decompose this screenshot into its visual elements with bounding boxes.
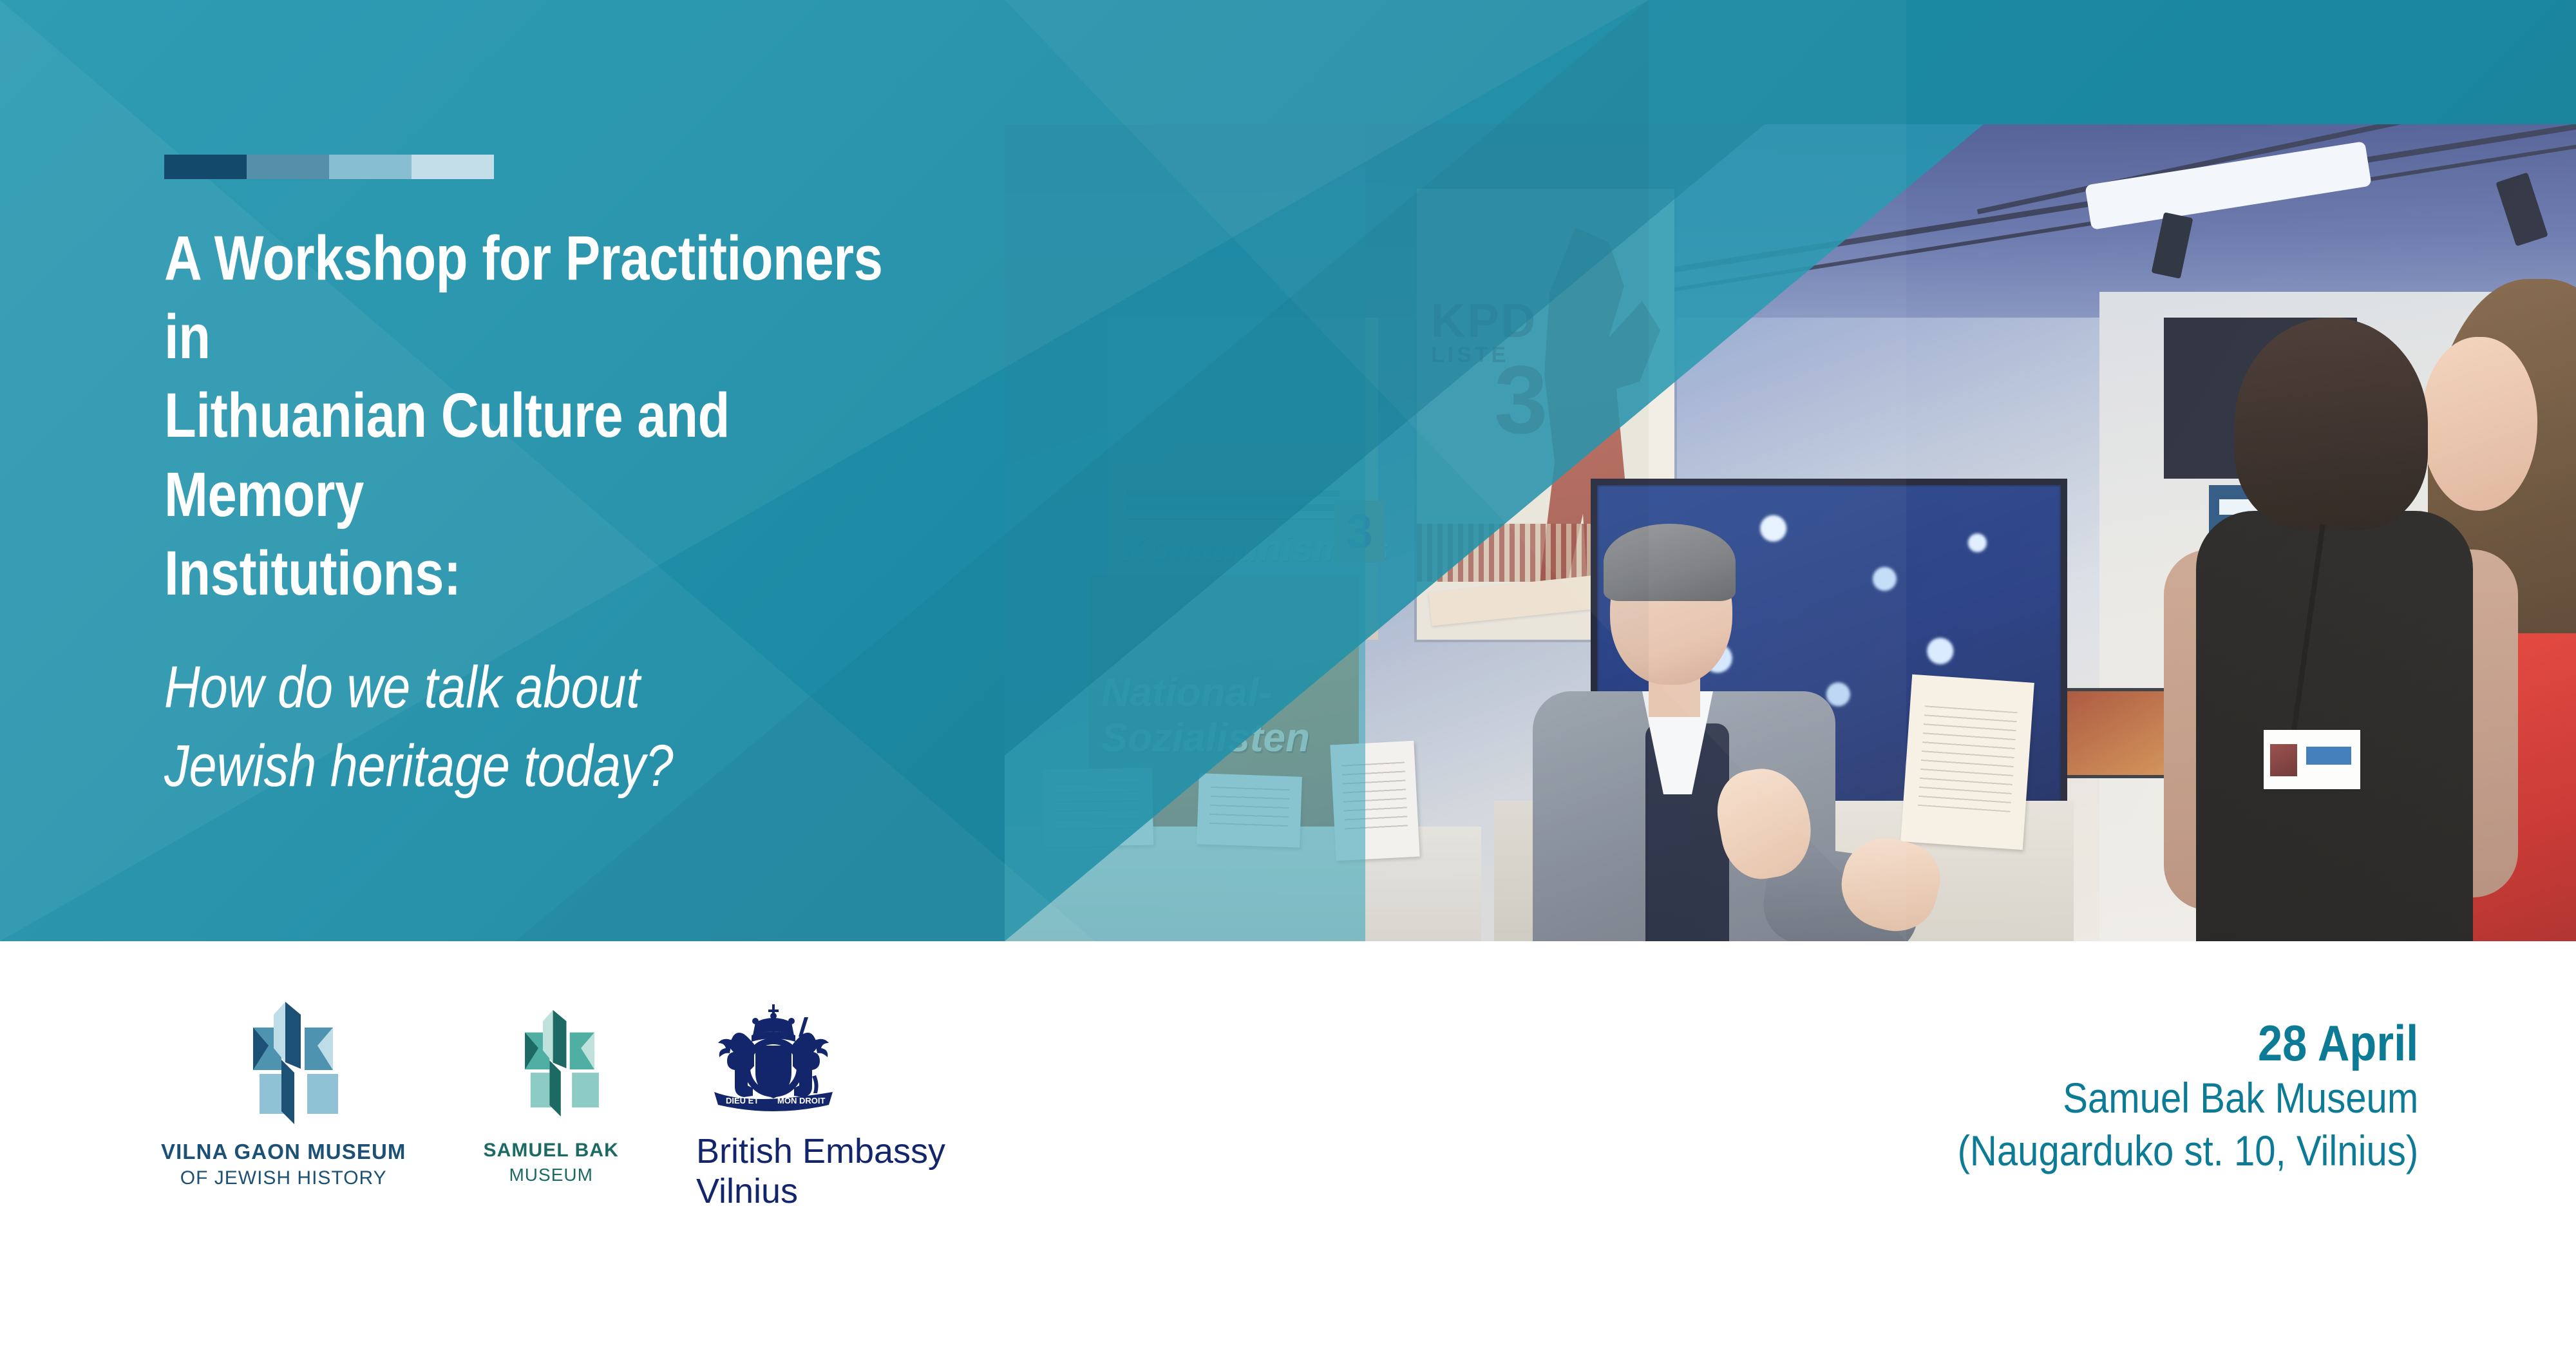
logo-british-embassy[interactable]: DIEU ET MON DROIT British Embassy Vilniu… bbox=[696, 1000, 945, 1211]
hero-text-block: A Workshop for Practitioners in Lithuani… bbox=[164, 155, 1079, 805]
swatch-dark-navy bbox=[164, 155, 247, 179]
subtitle-line-1: How do we talk about bbox=[164, 649, 933, 727]
title-line-1: A Workshop for Practitioners in bbox=[164, 219, 933, 376]
vilna-gaon-star-icon bbox=[209, 1000, 357, 1129]
logo-samuel-bak-name: SAMUEL BAK bbox=[483, 1140, 618, 1162]
logo-samuel-bak-caption: SAMUEL BAK MUSEUM bbox=[483, 1140, 618, 1185]
logo-british-embassy-city: Vilnius bbox=[696, 1172, 945, 1212]
logo-vilna-gaon-caption: VILNA GAON MUSEUM OF JEWISH HISTORY bbox=[161, 1140, 406, 1189]
event-details: 28 April Samuel Bak Museum (Naugarduko s… bbox=[1895, 1017, 2418, 1176]
logo-vilna-gaon-museum[interactable]: VILNA GAON MUSEUM OF JEWISH HISTORY bbox=[161, 1000, 406, 1189]
logo-vilna-gaon-name: VILNA GAON MUSEUM bbox=[161, 1140, 406, 1164]
title-line-3: Institutions: bbox=[164, 534, 933, 613]
event-poster: Kommunismus 3 National- Sozialisten KPD … bbox=[0, 0, 2576, 1349]
subtitle-line-2: Jewish heritage today? bbox=[164, 727, 933, 805]
logo-british-embassy-name: British Embassy bbox=[696, 1132, 945, 1172]
color-swatch-bar bbox=[164, 155, 494, 179]
logo-row: VILNA GAON MUSEUM OF JEWISH HISTORY bbox=[161, 1000, 945, 1211]
royal-coat-of-arms-icon: DIEU ET MON DROIT bbox=[696, 1000, 851, 1118]
title-line-2: Lithuanian Culture and Memory bbox=[164, 376, 933, 533]
motto-left-text: DIEU ET bbox=[726, 1096, 759, 1105]
event-date: 28 April bbox=[1957, 1017, 2418, 1069]
event-venue: Samuel Bak Museum bbox=[1957, 1073, 2418, 1124]
swatch-light-blue bbox=[329, 155, 412, 179]
motto-right-text: MON DROIT bbox=[777, 1096, 825, 1105]
swatch-steel-blue bbox=[247, 155, 329, 179]
logo-samuel-bak-museum[interactable]: SAMUEL BAK MUSEUM bbox=[483, 1000, 618, 1185]
samuel-bak-star-icon bbox=[487, 1000, 616, 1129]
hero-section: Kommunismus 3 National- Sozialisten KPD … bbox=[0, 0, 2576, 941]
logo-british-embassy-caption: British Embassy Vilnius bbox=[696, 1132, 945, 1211]
footer-section: VILNA GAON MUSEUM OF JEWISH HISTORY bbox=[0, 941, 2576, 1349]
event-address: (Naugarduko st. 10, Vilnius) bbox=[1957, 1126, 2418, 1176]
page-subtitle: How do we talk about Jewish heritage tod… bbox=[164, 649, 933, 805]
page-title: A Workshop for Practitioners in Lithuani… bbox=[164, 219, 933, 613]
logo-vilna-gaon-subtitle: OF JEWISH HISTORY bbox=[161, 1167, 406, 1189]
swatch-pale-blue bbox=[412, 155, 494, 179]
logo-samuel-bak-subtitle: MUSEUM bbox=[483, 1165, 618, 1185]
